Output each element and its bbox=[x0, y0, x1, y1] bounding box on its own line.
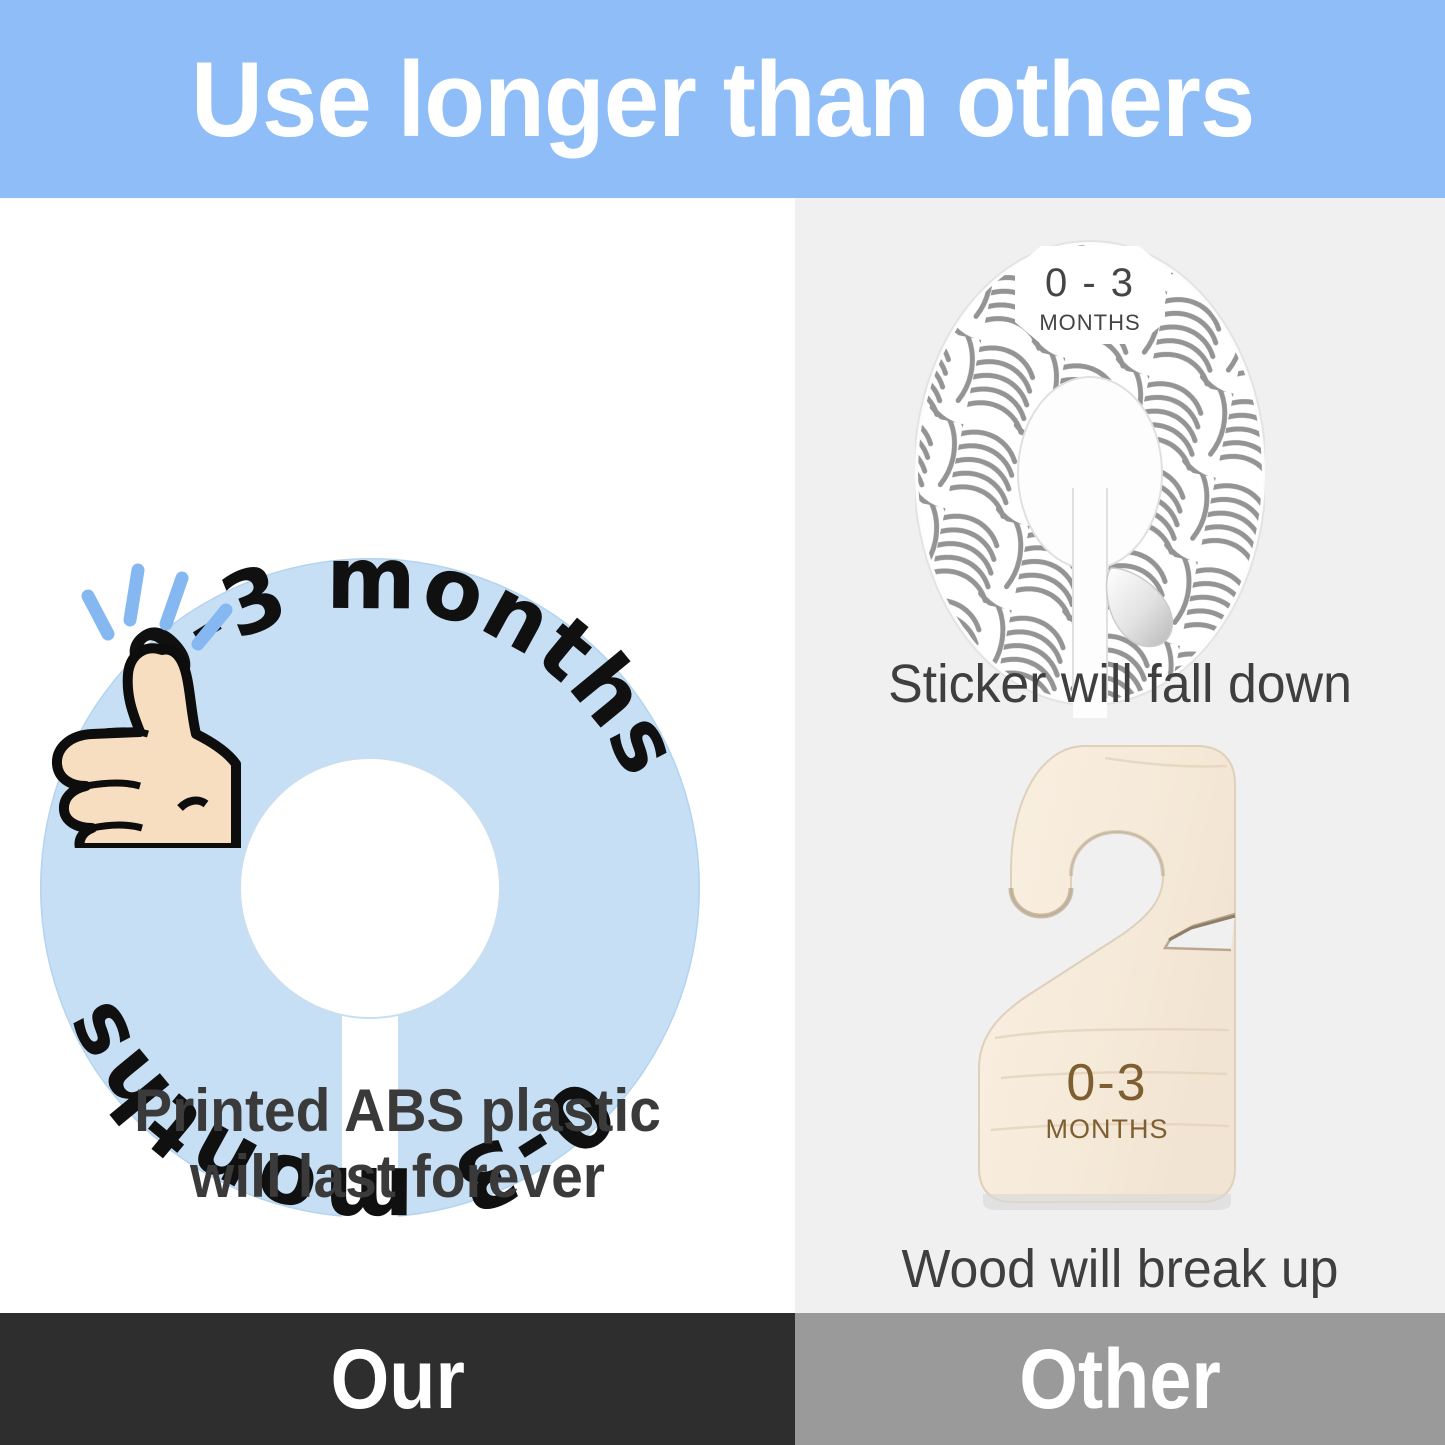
sticker-disc-graphic: 0 - 3 MONTHS bbox=[915, 238, 1265, 718]
our-caption-line2: will last forever bbox=[20, 1144, 775, 1210]
header-banner: Use longer than others bbox=[0, 0, 1445, 198]
wood-hanger-product: 0-3 MONTHS bbox=[935, 738, 1275, 1238]
footer-other: Other bbox=[795, 1313, 1445, 1445]
wood-unit-text: MONTHS bbox=[1046, 1114, 1169, 1144]
wood-size-text: 0-3 bbox=[1066, 1054, 1147, 1112]
thumbs-up-icon bbox=[30, 558, 260, 848]
footer-our: Our bbox=[0, 1313, 795, 1445]
footer-other-label: Other bbox=[1019, 1337, 1221, 1421]
sticker-disc-product: 0 - 3 MONTHS bbox=[915, 238, 1265, 718]
our-caption-line1: Printed ABS plastic bbox=[134, 1077, 661, 1144]
our-caption: Printed ABS plastic will last forever bbox=[20, 1078, 775, 1210]
wood-hanger-graphic: 0-3 MONTHS bbox=[935, 738, 1275, 1238]
infographic-stage: Use longer than others bbox=[0, 0, 1445, 1445]
sticker-size-text: 0 - 3 bbox=[1045, 261, 1135, 305]
panel-our: 0-3 months 0-3 months bbox=[0, 198, 795, 1313]
sticker-caption: Sticker will fall down bbox=[808, 653, 1432, 715]
footer-our-label: Our bbox=[330, 1337, 464, 1421]
sticker-unit-text: MONTHS bbox=[1039, 310, 1140, 335]
panel-other: 0 - 3 MONTHS Sticker will fall down bbox=[795, 198, 1445, 1313]
banner-title: Use longer than others bbox=[191, 46, 1254, 153]
wood-caption: Wood will break up bbox=[808, 1238, 1432, 1300]
